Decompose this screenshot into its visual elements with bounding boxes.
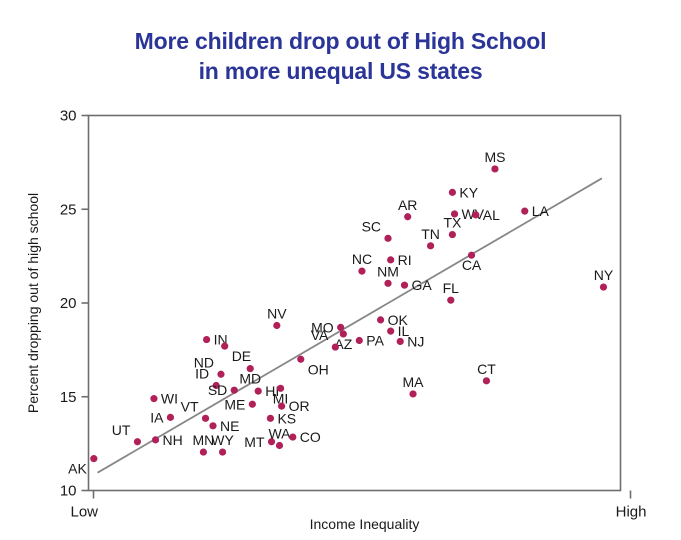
data-point-md[interactable]: MD bbox=[239, 365, 261, 387]
data-point-wi[interactable]: WI bbox=[150, 391, 178, 407]
data-point-co[interactable]: CO bbox=[289, 429, 321, 445]
data-point-label-or: OR bbox=[289, 398, 310, 414]
data-point-marker-nc[interactable] bbox=[358, 268, 365, 275]
data-point-tx[interactable]: TX bbox=[443, 215, 462, 239]
data-point-marker-wi[interactable] bbox=[150, 395, 157, 402]
data-point-label-ga: GA bbox=[412, 277, 433, 293]
data-point-de[interactable]: DE bbox=[221, 343, 251, 365]
data-point-marker-nh[interactable] bbox=[152, 436, 159, 443]
y-axis-tick-label-10: 10 bbox=[60, 483, 77, 500]
data-point-marker-wy[interactable] bbox=[219, 448, 226, 455]
data-point-sc[interactable]: SC bbox=[362, 218, 392, 242]
y-axis-tick-label-30: 30 bbox=[60, 108, 77, 125]
trend-line bbox=[98, 178, 602, 472]
data-point-label-wi: WI bbox=[161, 391, 178, 407]
data-point-ny[interactable]: NY bbox=[594, 267, 614, 291]
data-point-label-md: MD bbox=[239, 371, 261, 387]
data-point-label-nm: NM bbox=[377, 263, 399, 279]
data-point-label-de: DE bbox=[232, 348, 251, 364]
data-point-label-id: ID bbox=[195, 366, 209, 382]
data-point-label-ri: RI bbox=[398, 252, 412, 268]
data-point-marker-fl[interactable] bbox=[447, 297, 454, 304]
data-point-label-me: ME bbox=[224, 396, 245, 412]
data-point-marker-vt[interactable] bbox=[202, 415, 209, 422]
y-axis-tick-label-20: 20 bbox=[60, 295, 77, 312]
data-point-marker-wv[interactable] bbox=[451, 210, 458, 217]
data-point-marker-nj[interactable] bbox=[397, 338, 404, 345]
data-point-marker-pa[interactable] bbox=[356, 337, 363, 344]
data-point-marker-ri[interactable] bbox=[387, 256, 394, 263]
data-point-pa[interactable]: PA bbox=[356, 333, 385, 349]
data-point-marker-mo[interactable] bbox=[337, 324, 344, 331]
data-point-marker-co[interactable] bbox=[289, 433, 296, 440]
data-point-marker-in[interactable] bbox=[203, 336, 210, 343]
data-point-label-nj: NJ bbox=[407, 333, 424, 349]
data-point-label-wa: WA bbox=[268, 426, 291, 442]
data-point-label-co: CO bbox=[300, 429, 321, 445]
data-point-label-ma: MA bbox=[403, 374, 425, 390]
data-point-marker-la[interactable] bbox=[521, 208, 528, 215]
data-point-me[interactable]: ME bbox=[224, 396, 256, 412]
x-axis-title: Income Inequality bbox=[310, 516, 420, 532]
data-point-label-wy: WY bbox=[211, 432, 234, 448]
data-point-marker-hi[interactable] bbox=[255, 388, 262, 395]
data-point-marker-ia[interactable] bbox=[167, 414, 174, 421]
data-point-label-ia: IA bbox=[150, 409, 164, 425]
data-point-ky[interactable]: KY bbox=[449, 184, 479, 200]
data-point-marker-ne[interactable] bbox=[209, 422, 216, 429]
data-point-label-nc: NC bbox=[352, 251, 372, 267]
data-point-tn[interactable]: TN bbox=[421, 226, 440, 250]
x-axis-tick-label-low: Low bbox=[71, 504, 99, 521]
data-point-ar[interactable]: AR bbox=[398, 197, 417, 221]
data-point-ga[interactable]: GA bbox=[401, 277, 432, 293]
data-point-label-oh: OH bbox=[308, 361, 329, 377]
data-point-marker-me[interactable] bbox=[249, 401, 256, 408]
data-point-marker-nv[interactable] bbox=[273, 322, 280, 329]
data-point-marker-ny[interactable] bbox=[600, 283, 607, 290]
data-point-marker-ma[interactable] bbox=[409, 390, 416, 397]
data-point-label-ct: CT bbox=[477, 361, 496, 377]
y-axis-tick-label-25: 25 bbox=[60, 201, 77, 218]
data-point-label-nv: NV bbox=[267, 306, 287, 322]
data-point-marker-mn[interactable] bbox=[200, 448, 207, 455]
data-point-marker-ak[interactable] bbox=[90, 455, 97, 462]
data-point-wy[interactable]: WY bbox=[211, 432, 234, 456]
data-point-label-sc: SC bbox=[362, 218, 381, 234]
scatter-chart: 1015202530LowHighIncome InequalityPercen… bbox=[0, 0, 681, 540]
data-point-label-ca: CA bbox=[462, 257, 482, 273]
data-point-marker-or[interactable] bbox=[278, 403, 285, 410]
data-point-ct[interactable]: CT bbox=[477, 361, 496, 385]
data-point-marker-ut[interactable] bbox=[134, 438, 141, 445]
data-point-label-nh: NH bbox=[163, 432, 183, 448]
data-point-marker-ms[interactable] bbox=[491, 165, 498, 172]
data-point-marker-va[interactable] bbox=[332, 343, 339, 350]
data-point-nh[interactable]: NH bbox=[152, 432, 183, 448]
data-point-marker-il[interactable] bbox=[387, 328, 394, 335]
plot-canvas: 1015202530LowHighIncome InequalityPercen… bbox=[0, 0, 681, 540]
data-point-fl[interactable]: FL bbox=[443, 280, 460, 304]
data-point-label-ky: KY bbox=[459, 184, 478, 200]
data-point-label-la: LA bbox=[532, 203, 550, 219]
data-point-label-al: AL bbox=[483, 207, 500, 223]
data-point-ca[interactable]: CA bbox=[462, 252, 482, 274]
data-point-label-tn: TN bbox=[421, 226, 440, 242]
data-point-marker-de[interactable] bbox=[221, 343, 228, 350]
data-point-marker-ct[interactable] bbox=[483, 377, 490, 384]
data-point-label-vt: VT bbox=[181, 398, 199, 414]
data-point-ut[interactable]: UT bbox=[112, 422, 141, 446]
data-point-oh[interactable]: OH bbox=[297, 356, 329, 378]
data-point-marker-ks[interactable] bbox=[267, 415, 274, 422]
data-point-label-ut: UT bbox=[112, 422, 131, 438]
data-point-label-mt: MT bbox=[244, 434, 265, 450]
x-axis-tick-label-high: High bbox=[616, 504, 647, 521]
data-point-label-ar: AR bbox=[398, 197, 417, 213]
y-axis-tick-label-15: 15 bbox=[60, 389, 77, 406]
data-point-label-pa: PA bbox=[366, 333, 384, 349]
data-point-marker-sc[interactable] bbox=[384, 235, 391, 242]
data-point-marker-ky[interactable] bbox=[449, 189, 456, 196]
data-point-marker-ok[interactable] bbox=[377, 316, 384, 323]
data-point-ia[interactable]: IA bbox=[150, 409, 174, 425]
data-point-marker-ar[interactable] bbox=[404, 213, 411, 220]
data-point-label-fl: FL bbox=[443, 280, 460, 296]
data-point-label-ny: NY bbox=[594, 267, 614, 283]
data-point-marker-nm[interactable] bbox=[384, 280, 391, 287]
data-point-label-ak: AK bbox=[68, 461, 87, 477]
data-point-marker-sd[interactable] bbox=[231, 387, 238, 394]
data-point-nm[interactable]: NM bbox=[377, 263, 399, 287]
data-point-marker-tx[interactable] bbox=[449, 231, 456, 238]
data-point-wa[interactable]: WA bbox=[268, 426, 291, 450]
data-point-marker-tn[interactable] bbox=[427, 242, 434, 249]
data-point-marker-oh[interactable] bbox=[297, 356, 304, 363]
data-point-ma[interactable]: MA bbox=[403, 374, 425, 398]
data-point-ak[interactable]: AK bbox=[68, 455, 97, 477]
data-point-label-ms: MS bbox=[484, 149, 505, 165]
data-point-label-va: VA bbox=[311, 327, 329, 343]
data-point-marker-al[interactable] bbox=[472, 211, 479, 218]
data-point-nc[interactable]: NC bbox=[352, 251, 372, 275]
data-point-marker-ga[interactable] bbox=[401, 282, 408, 289]
data-point-la[interactable]: LA bbox=[521, 203, 549, 219]
y-axis-title: Percent dropping out of high school bbox=[25, 193, 41, 413]
data-point-ms[interactable]: MS bbox=[484, 149, 505, 173]
data-point-marker-nd[interactable] bbox=[217, 371, 224, 378]
data-point-marker-wa[interactable] bbox=[276, 442, 283, 449]
data-point-nv[interactable]: NV bbox=[267, 306, 287, 330]
